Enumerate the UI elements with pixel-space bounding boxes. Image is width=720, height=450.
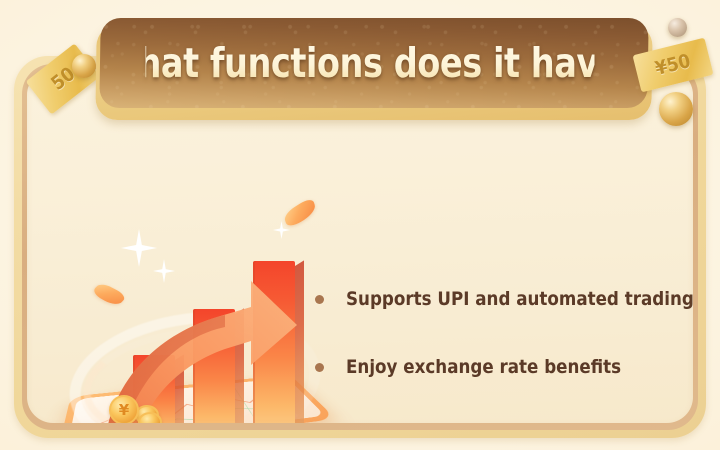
page-title: What functions does it have? [145,18,594,108]
feature-item: Enjoy exchange rate benefits [315,333,693,401]
feature-item: Supports UPI and automated trading. [315,265,693,333]
gold-sphere-icon [659,92,693,126]
confetti-ribbon [283,196,317,230]
title-banner: What functions does it have? [96,18,652,120]
feature-label: Enjoy exchange rate benefits [346,356,621,378]
bullet-dot-icon [315,363,324,372]
growth-chart-illustration: ¥ [65,209,333,423]
banknote-denomination: ¥50 [653,50,693,80]
pearl-sphere-icon [668,18,687,37]
bullet-dot-icon [315,295,324,304]
feature-item: Highest level of protection [315,401,693,423]
feature-label: Supports UPI and automated trading. [346,288,693,310]
gold-sphere-icon [72,54,96,78]
currency-coin-icon: ¥ [109,395,139,423]
feature-list: Supports UPI and automated trading. Enjo… [315,265,693,423]
content-panel: ¥ Supports UPI and automated trading. En… [27,69,693,423]
coin-symbol: ¥ [119,401,129,419]
promo-card: ¥ Supports UPI and automated trading. En… [0,0,720,450]
